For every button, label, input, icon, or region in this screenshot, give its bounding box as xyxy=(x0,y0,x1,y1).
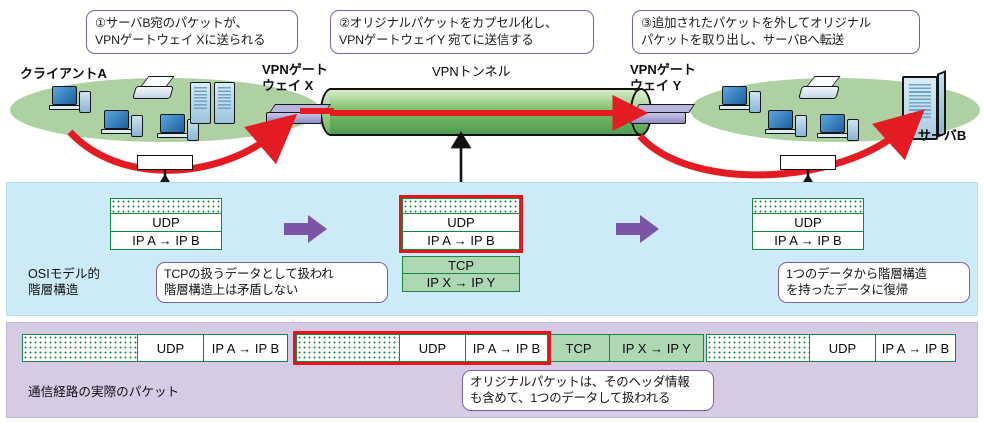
callout-step3: ③追加されたパケットを外してオリジナル パケットを取り出し、サーバBへ転送 xyxy=(632,10,920,54)
monitor-base xyxy=(49,105,80,110)
packet-stack-left: UDP IP A → IP B xyxy=(110,198,222,250)
monitor-base xyxy=(157,133,188,138)
gateway-front xyxy=(266,112,322,124)
callout-step2: ②オリジナルパケットをカプセル化し、 VPNゲートウェイY 宛てに送信する xyxy=(330,10,594,54)
monitor-icon xyxy=(52,86,77,105)
stack-row-tcp: TCP xyxy=(402,256,520,274)
pc-tower-icon xyxy=(795,115,807,137)
note-tcp-consistency: TCPの扱うデータとして扱われ 階層構造上は矛盾しない xyxy=(156,262,388,303)
stack-row-udp: UDP xyxy=(402,214,520,232)
label-client-a: クライアントA xyxy=(20,66,107,82)
pc-tower-icon xyxy=(847,119,859,141)
rack-body xyxy=(190,82,211,124)
wire-seg-ip-outer: IP X → IP Y xyxy=(610,334,704,362)
stack-row-data xyxy=(752,198,864,214)
label-server-b: サーバB xyxy=(918,128,966,144)
wire-band-label: 通信経路の実際のパケット xyxy=(28,384,179,400)
vpn-gateway-x xyxy=(266,104,328,124)
wire-seg-udp: UDP xyxy=(138,334,204,362)
label-gateway-y: VPNゲート ウェイ Y xyxy=(630,62,696,94)
monitor-icon xyxy=(768,110,793,129)
wire-seg-tcp: TCP xyxy=(548,334,610,362)
vpn-tunnel-body xyxy=(330,88,640,136)
stack-row-ip-outer: IP X → IP Y xyxy=(402,274,520,292)
rack-body xyxy=(214,82,235,124)
stack-row-udp: UDP xyxy=(110,214,222,232)
wire-packet-right: UDP IP A → IP B xyxy=(706,334,956,362)
tunnel-label: VPNトンネル xyxy=(432,64,510,80)
pc-tower-icon xyxy=(79,91,91,113)
encapsulation-arrow-right xyxy=(284,214,328,244)
stack-row-ip: IP A → IP B xyxy=(752,232,864,250)
stack-row-ip-inner: IP A → IP B xyxy=(402,232,520,250)
monitor-base xyxy=(765,129,796,134)
stack-row-ip: IP A → IP B xyxy=(110,232,222,250)
monitor-icon xyxy=(820,114,845,133)
label-gateway-x: VPNゲート ウェイ X xyxy=(262,62,328,94)
vpn-gateway-y xyxy=(630,104,692,124)
callout-step1: ①サーバB宛のパケットが、 VPNゲートウェイ Xに送られる xyxy=(86,10,298,54)
stack-row-data xyxy=(110,198,222,214)
wire-seg-data xyxy=(706,334,810,362)
packet-stack-center: UDP IP A → IP B TCP IP X → IP Y xyxy=(402,198,520,292)
pc-tower-icon xyxy=(131,115,143,137)
monitor-base xyxy=(101,129,132,134)
monitor-base xyxy=(817,133,848,138)
wire-seg-ip: IP A → IP B xyxy=(876,334,956,362)
note-restore-hierarchy: 1つのデータから階層構造 を持ったデータに復帰 xyxy=(778,262,970,303)
osi-band-label: OSIモデル的 階層構造 xyxy=(28,266,100,298)
monitor-icon xyxy=(722,86,747,105)
vpn-tunnel-diagram: ①サーバB宛のパケットが、 VPNゲートウェイ Xに送られる ②オリジナルパケッ… xyxy=(0,0,984,422)
printer-body xyxy=(798,86,840,99)
gateway-front xyxy=(630,112,686,124)
packet-stack-right: UDP IP A → IP B xyxy=(752,198,864,250)
pc-tower-icon xyxy=(749,91,761,113)
monitor-icon xyxy=(160,114,185,133)
stack-row-data xyxy=(402,198,520,214)
wire-inner-packet-highlight xyxy=(293,331,551,365)
wire-seg-data xyxy=(22,334,138,362)
encapsulated-inner-packet-highlight: UDP IP A → IP B xyxy=(399,195,523,253)
decapsulation-arrow-right xyxy=(616,214,660,244)
wire-seg-udp: UDP xyxy=(810,334,876,362)
monitor-icon xyxy=(104,110,129,129)
monitor-base xyxy=(719,105,750,110)
packet-box-on-right-arc xyxy=(780,155,836,170)
wire-packet-left: UDP IP A → IP B xyxy=(22,334,288,362)
packet-box-on-left-arc xyxy=(137,155,193,170)
note-original-packet: オリジナルパケットは、そのヘッダ情報 も含めて、1つのデータして扱われる xyxy=(462,370,714,411)
stack-row-udp: UDP xyxy=(752,214,864,232)
printer-body xyxy=(132,86,174,99)
wire-seg-ip: IP A → IP B xyxy=(204,334,288,362)
